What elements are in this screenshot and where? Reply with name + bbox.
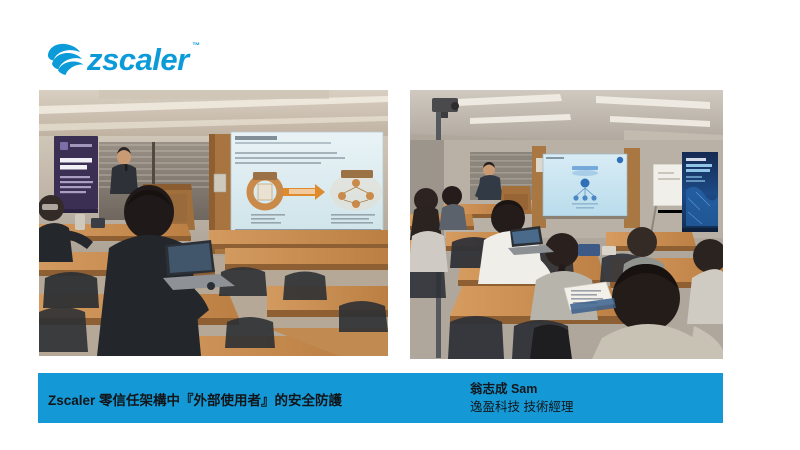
speaker-name: 翁志成 Sam: [470, 380, 573, 398]
caption-bar: Zscaler 零信任架構中『外部使用者』的安全防護 翁志成 Sam 逸盈科技 …: [38, 373, 723, 423]
zscaler-wordmark: zscaler ™: [87, 44, 189, 75]
zscaler-cloud-logo-icon: [44, 39, 86, 79]
trademark-symbol: ™: [192, 42, 200, 50]
photo-right-classroom-audience: [410, 90, 723, 359]
zscaler-logo: zscaler ™: [44, 36, 204, 82]
zscaler-wordmark-text: zscaler: [87, 42, 189, 77]
speaker-role: 逸盈科技 技術經理: [470, 398, 573, 416]
session-title: Zscaler 零信任架構中『外部使用者』的安全防護: [48, 389, 342, 409]
photo-left-classroom-presentation: [39, 90, 388, 356]
speaker-block: 翁志成 Sam 逸盈科技 技術經理: [470, 380, 573, 416]
